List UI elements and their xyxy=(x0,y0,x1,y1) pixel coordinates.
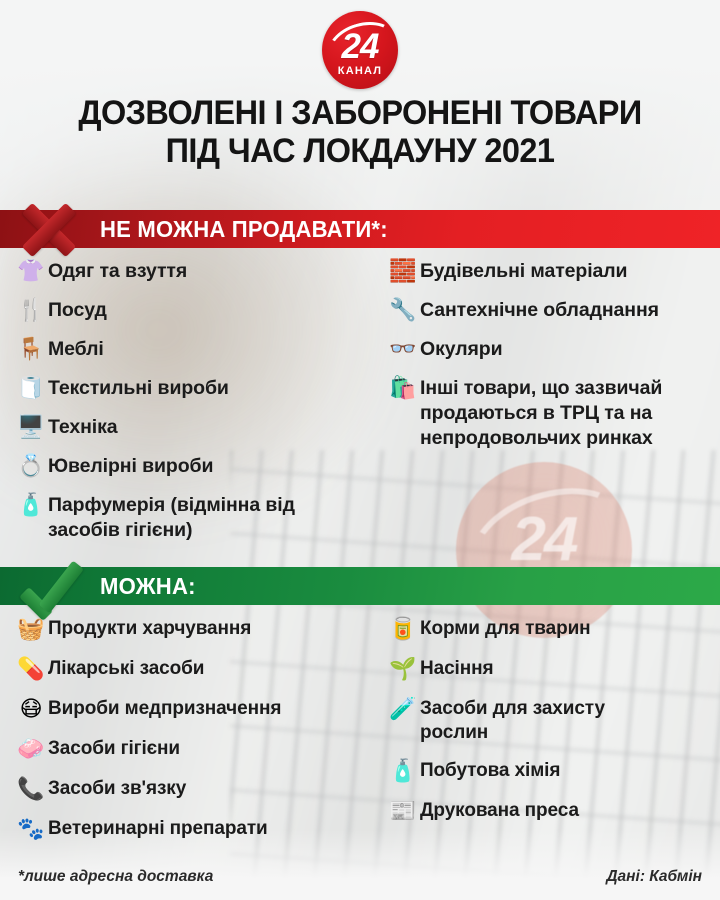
list-item-label: Засоби гігієни xyxy=(48,734,180,761)
logo-circle: 24 КАНАЛ xyxy=(322,11,398,89)
spray-bottle-icon: 🧴 xyxy=(386,756,420,786)
list-item: 😷 Вироби медпризначення xyxy=(14,694,372,724)
rocking-chair-icon: 🪑 xyxy=(14,334,48,364)
list-item: 🧴 Парфумерія (відмінна від засобів гігіє… xyxy=(14,490,372,543)
pesticide-bag-icon: 🧪 xyxy=(386,694,420,724)
list-item-label: Інші товари, що зазвичай продаються в ТР… xyxy=(420,373,712,451)
list-item-label: Ветеринарні препарати xyxy=(48,814,268,841)
medical-mask-icon: 😷 xyxy=(14,694,48,724)
phone-icon: 📞 xyxy=(14,774,48,804)
list-item-label: Засоби для захисту рослин xyxy=(420,694,664,746)
page-title-line1: ДОЗВОЛЕНІ І ЗАБОРОНЕНІ ТОВАРИ xyxy=(78,94,641,132)
wrench-icon: 🔧 xyxy=(386,295,420,325)
allowed-left-column: 🧺 Продукти харчування 💊 Лікарські засоби… xyxy=(0,614,372,854)
forbidden-banner-label: НЕ МОЖНА ПРОДАВАТИ*: xyxy=(100,216,388,243)
forbidden-right-column: 🧱 Будівельні матеріали 🔧 Сантехнічне обл… xyxy=(372,256,720,552)
footer-note: *лише адресна доставка xyxy=(18,868,213,886)
list-item: 🧻 Текстильні вироби xyxy=(14,373,372,403)
list-item: 📞 Засоби зв'язку xyxy=(14,774,372,804)
clothing-icon: 👚 xyxy=(14,256,48,286)
list-item-label: Текстильні вироби xyxy=(48,373,229,401)
cutlery-icon: 🍴 xyxy=(14,295,48,325)
list-item-label: Вироби медпризначення xyxy=(48,694,281,721)
allowed-banner: МОЖНА: xyxy=(0,567,720,605)
list-item-label: Будівельні матеріали xyxy=(420,256,627,284)
list-item-label: Побутова хімія xyxy=(420,756,560,783)
list-item: 🐾 Ветеринарні препарати xyxy=(14,814,372,844)
x-mark-icon xyxy=(18,200,80,260)
cement-bag-icon: 🧱 xyxy=(386,256,420,286)
glasses-icon: 👓 xyxy=(386,334,420,364)
list-item: 🧴 Побутова хімія xyxy=(386,756,720,786)
list-item: 🖥️ Техніка xyxy=(14,412,372,442)
shopping-bags-icon: 🛍️ xyxy=(386,373,420,403)
list-item-label: Насіння xyxy=(420,654,493,681)
list-item: 🪑 Меблі xyxy=(14,334,372,364)
footer-source: Дані: Кабмін xyxy=(606,868,702,886)
textile-icon: 🧻 xyxy=(14,373,48,403)
list-item-label: Окуляри xyxy=(420,334,502,362)
list-item: 💍 Ювелірні вироби xyxy=(14,451,372,481)
list-item: 👚 Одяг та взуття xyxy=(14,256,372,286)
newspaper-icon: 📰 xyxy=(386,796,420,826)
forbidden-left-column: 👚 Одяг та взуття 🍴 Посуд 🪑 Меблі 🧻 Текст… xyxy=(0,256,372,552)
list-item-label: Одяг та взуття xyxy=(48,256,187,284)
forbidden-banner: НЕ МОЖНА ПРОДАВАТИ*: xyxy=(0,210,720,248)
channel-logo: 24 КАНАЛ xyxy=(322,11,398,89)
allowed-right-column: 🥫 Корми для тварин 🌱 Насіння 🧪 Засоби дл… xyxy=(372,614,720,854)
list-item: 🧱 Будівельні матеріали xyxy=(386,256,720,286)
list-item-label: Лікарські засоби xyxy=(48,654,204,681)
list-item: 📰 Друкована преса xyxy=(386,796,720,826)
footer: *лише адресна доставка Дані: Кабмін xyxy=(0,868,720,886)
list-item-label: Сантехнічне обладнання xyxy=(420,295,659,323)
list-item: 🧪 Засоби для захисту рослин xyxy=(386,694,720,746)
hygiene-icon: 🧼 xyxy=(14,734,48,764)
list-item: 🌱 Насіння xyxy=(386,654,720,684)
list-item-label: Засоби зв'язку xyxy=(48,774,186,801)
logo-swoosh-icon xyxy=(322,14,398,82)
page-title-line2: ПІД ЧАС ЛОКДАУНУ 2021 xyxy=(16,132,704,170)
ring-icon: 💍 xyxy=(14,451,48,481)
list-item: 🔧 Сантехнічне обладнання xyxy=(386,295,720,325)
allowed-banner-label: МОЖНА: xyxy=(100,573,196,600)
paw-heart-icon: 🐾 xyxy=(14,814,48,844)
list-item-label: Друкована преса xyxy=(420,796,579,823)
list-item-label: Корми для тварин xyxy=(420,614,591,641)
list-item: 💊 Лікарські засоби xyxy=(14,654,372,684)
forbidden-section: 👚 Одяг та взуття 🍴 Посуд 🪑 Меблі 🧻 Текст… xyxy=(0,256,720,552)
list-item-label: Техніка xyxy=(48,412,117,440)
check-mark-icon xyxy=(20,557,90,619)
list-item-label: Ювелірні вироби xyxy=(48,451,213,479)
list-item: 🛍️ Інші товари, що зазвичай продаються в… xyxy=(386,373,720,451)
perfume-icon: 🧴 xyxy=(14,490,48,520)
pet-food-bag-icon: 🥫 xyxy=(386,614,420,644)
page-title: ДОЗВОЛЕНІ І ЗАБОРОНЕНІ ТОВАРИ ПІД ЧАС ЛО… xyxy=(16,94,704,171)
allowed-section: 🧺 Продукти харчування 💊 Лікарські засоби… xyxy=(0,614,720,854)
list-item-label: Посуд xyxy=(48,295,107,323)
seedling-icon: 🌱 xyxy=(386,654,420,684)
list-item: 👓 Окуляри xyxy=(386,334,720,364)
list-item: 🍴 Посуд xyxy=(14,295,372,325)
list-item-label: Меблі xyxy=(48,334,104,362)
list-item: 🧼 Засоби гігієни xyxy=(14,734,372,764)
list-item-label: Парфумерія (відмінна від засобів гігієни… xyxy=(48,490,310,543)
pills-icon: 💊 xyxy=(14,654,48,684)
computer-monitor-icon: 🖥️ xyxy=(14,412,48,442)
list-item: 🥫 Корми для тварин xyxy=(386,614,720,644)
infographic-page: 24 КАНАЛ ДОЗВОЛЕНІ І ЗАБОРОНЕНІ ТОВАРИ П… xyxy=(0,0,720,900)
